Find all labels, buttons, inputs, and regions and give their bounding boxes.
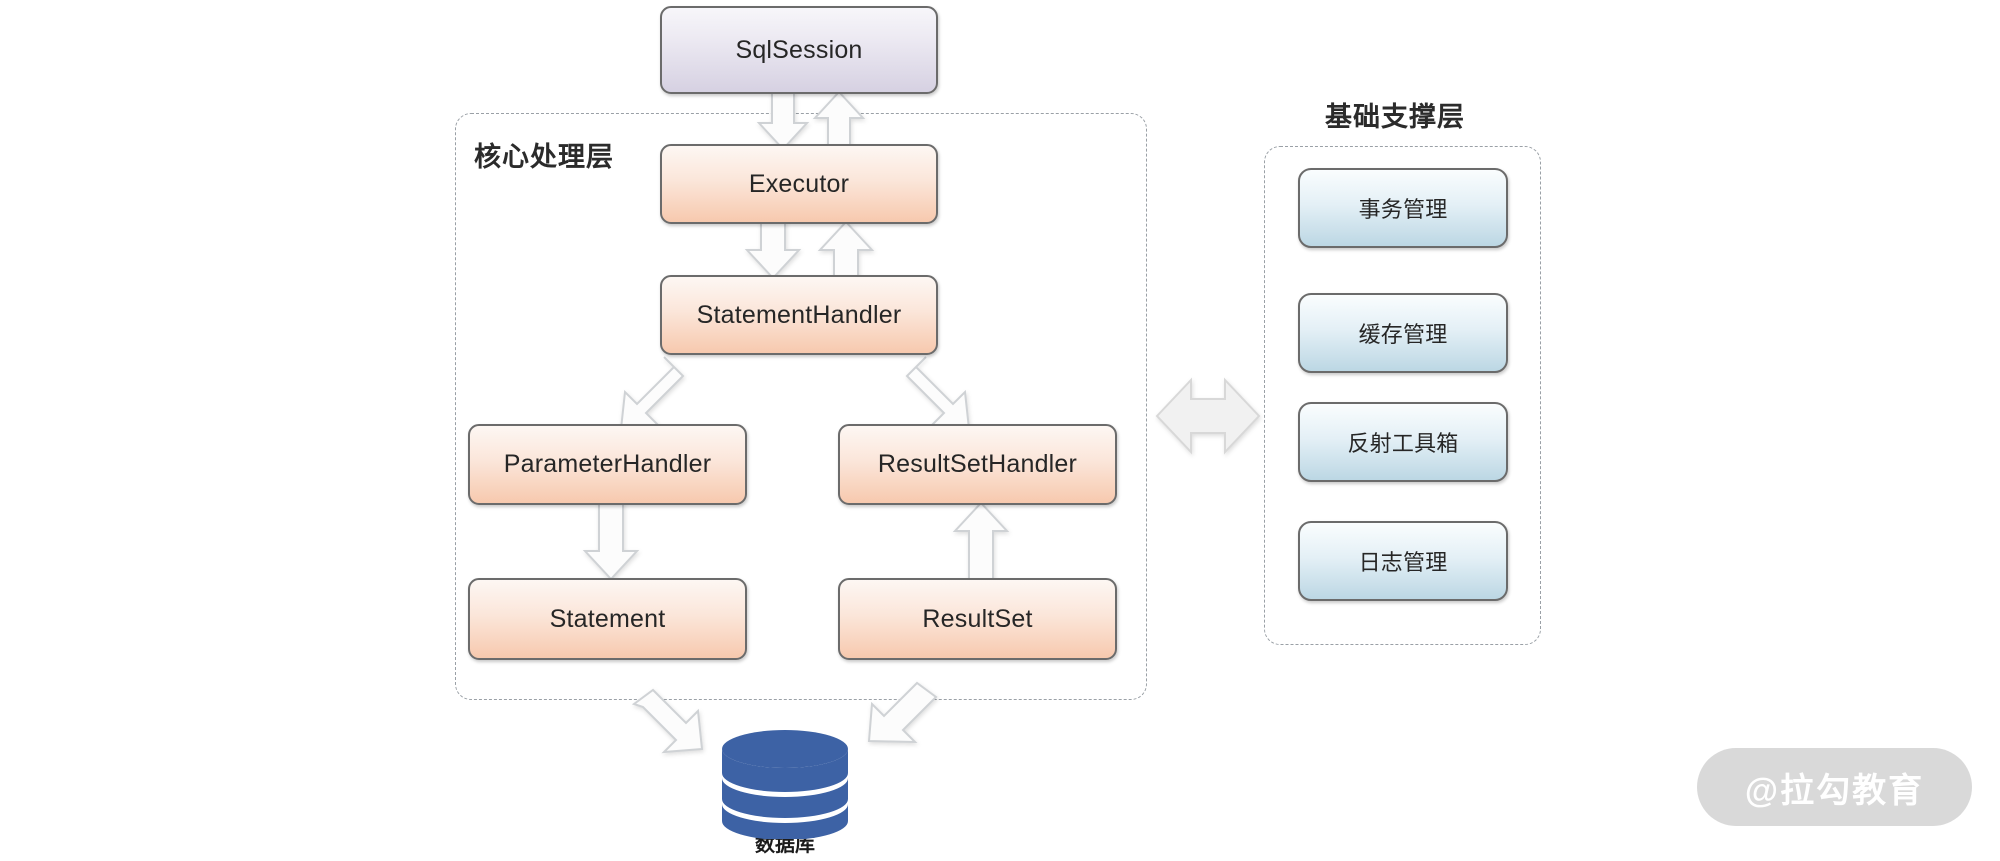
arrow-resultsethandler-to-statementhandler xyxy=(893,355,1003,435)
arrow-resultset-to-resultsethandler xyxy=(953,503,1029,580)
node-resultsethandler[interactable]: ResultSetHandler xyxy=(838,424,1117,505)
diagram-canvas: 核心处理层 基础支撑层 xyxy=(0,0,2000,861)
node-cache-management[interactable]: 缓存管理 xyxy=(1298,293,1508,373)
node-statementhandler[interactable]: StatementHandler xyxy=(660,275,938,355)
core-layer-label: 核心处理层 xyxy=(474,135,614,174)
arrow-core-support-bidirectional xyxy=(1157,368,1259,464)
database-icon xyxy=(715,729,855,839)
watermark: @拉勾教育 xyxy=(1697,748,1972,826)
support-layer-label: 基础支撑层 xyxy=(1325,95,1465,134)
arrow-statementhandler-to-parameterhandler xyxy=(595,355,705,435)
node-transaction-management[interactable]: 事务管理 xyxy=(1298,168,1508,248)
arrow-executor-to-sqlsession xyxy=(813,92,883,150)
node-parameterhandler[interactable]: ParameterHandler xyxy=(468,424,747,505)
arrow-statementhandler-to-executor xyxy=(818,222,894,279)
node-sqlsession[interactable]: SqlSession xyxy=(660,6,938,94)
node-reflection-toolbox[interactable]: 反射工具箱 xyxy=(1298,402,1508,482)
node-resultset[interactable]: ResultSet xyxy=(838,578,1117,660)
node-executor[interactable]: Executor xyxy=(660,144,938,224)
arrow-executor-to-statementhandler xyxy=(745,222,821,279)
node-statement[interactable]: Statement xyxy=(468,578,747,660)
arrow-parameterhandler-to-statement xyxy=(583,503,659,580)
arrow-database-to-resultset xyxy=(866,686,976,776)
node-log-management[interactable]: 日志管理 xyxy=(1298,521,1508,601)
